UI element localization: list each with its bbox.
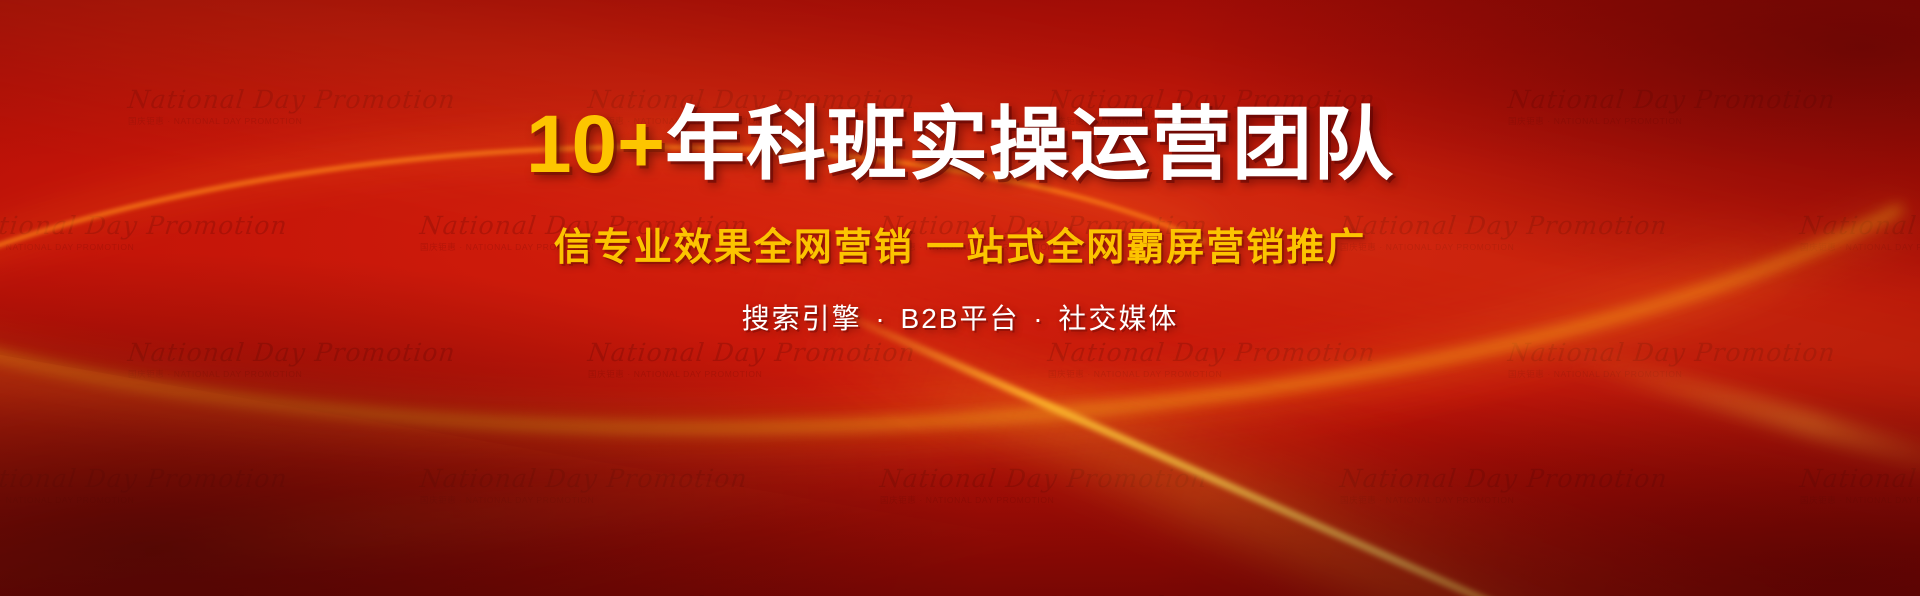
headline-number: 10+: [526, 99, 665, 190]
banner-content: 10+年科班实操运营团队 信专业效果全网营销 一站式全网霸屏营销推广 搜索引擎 …: [0, 0, 1920, 596]
tagline-item-social-media: 社交媒体: [1058, 303, 1178, 334]
tagline-item-search-engine: 搜索引擎: [742, 303, 862, 334]
headline-text: 年科班实操运营团队: [665, 100, 1394, 189]
banner-subline: 信专业效果全网营销 一站式全网霸屏营销推广: [554, 216, 1367, 271]
banner-headline: 10+年科班实操运营团队: [526, 104, 1394, 186]
promo-banner: National Day Promotion 国庆钜惠 · NATIONAL D…: [0, 0, 1920, 596]
tagline-item-b2b-platform: B2B平台: [901, 303, 1020, 334]
banner-tagline: 搜索引擎 · B2B平台 · 社交媒体: [742, 297, 1179, 337]
tagline-separator-dot: ·: [1029, 303, 1048, 334]
tagline-separator-dot: ·: [871, 303, 890, 334]
